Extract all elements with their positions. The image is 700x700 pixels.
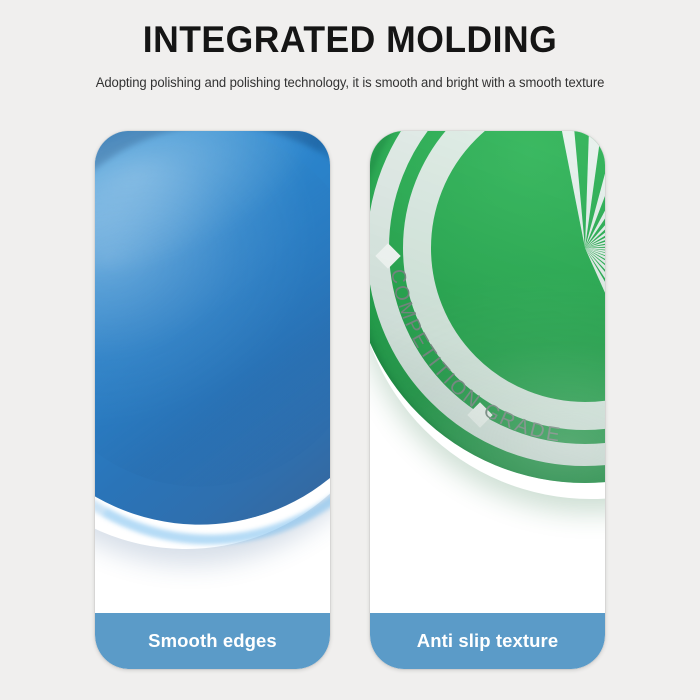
- blue-flying-disc-graphic: [95, 131, 330, 525]
- caption-label: Smooth edges: [148, 630, 277, 652]
- page-title: INTEGRATED MOLDING: [14, 0, 686, 61]
- caption-label: Anti slip texture: [417, 630, 559, 652]
- feature-card-anti-slip-texture[interactable]: COMPETITION GRADE Anti slip texture: [370, 131, 605, 669]
- product-photo-green-disc: COMPETITION GRADE: [370, 131, 605, 613]
- caption-bar-anti-slip-texture: Anti slip texture: [370, 613, 605, 669]
- page-subtitle: Adopting polishing and polishing technol…: [11, 61, 690, 90]
- feature-card-list: Smooth edges: [95, 131, 605, 669]
- blue-disc-edge-highlight: [95, 131, 330, 597]
- caption-bar-smooth-edges: Smooth edges: [95, 613, 330, 669]
- green-flying-disc-graphic: COMPETITION GRADE: [370, 131, 605, 483]
- header: INTEGRATED MOLDING Adopting polishing an…: [0, 0, 700, 90]
- product-photo-blue-disc: [95, 131, 330, 613]
- green-disc-body: COMPETITION GRADE: [370, 131, 605, 483]
- feature-card-smooth-edges[interactable]: Smooth edges: [95, 131, 330, 669]
